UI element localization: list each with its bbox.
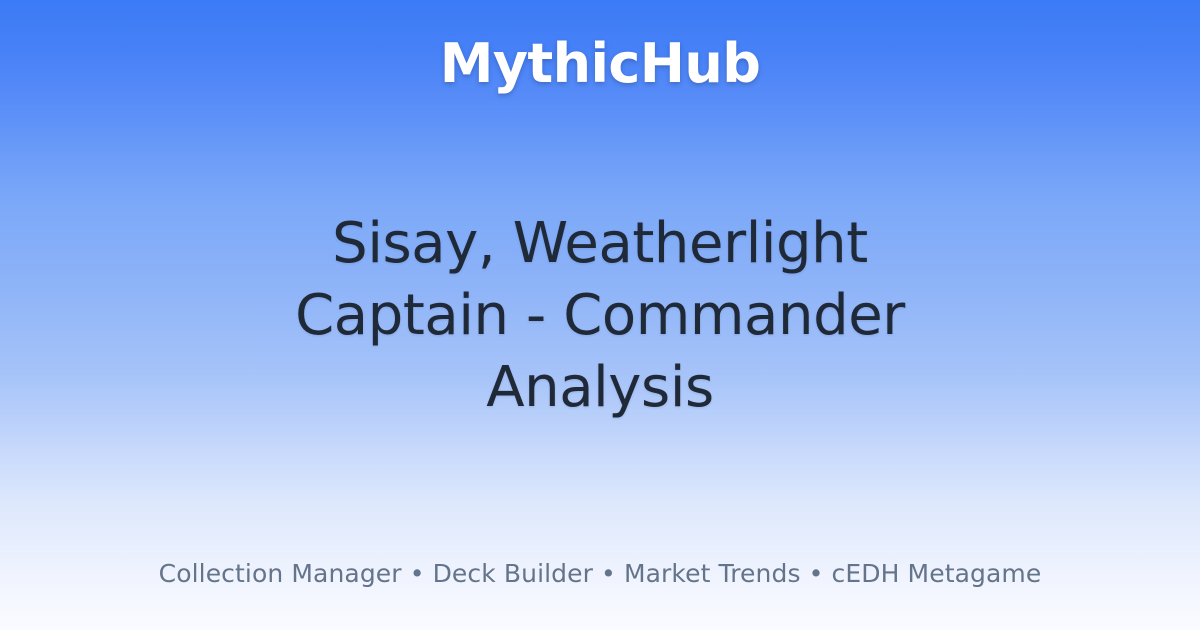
- headline-section: Sisay, Weatherlight Captain - Commander …: [100, 91, 1100, 559]
- feature-list: Collection Manager • Deck Builder • Mark…: [159, 559, 1042, 589]
- footer-section: Collection Manager • Deck Builder • Mark…: [0, 559, 1200, 589]
- og-card: MythicHub Sisay, Weatherlight Captain - …: [0, 0, 1200, 630]
- brand-logo: MythicHub: [440, 37, 761, 91]
- page-title: Sisay, Weatherlight Captain - Commander …: [270, 208, 930, 424]
- brand-header: MythicHub: [0, 37, 1200, 91]
